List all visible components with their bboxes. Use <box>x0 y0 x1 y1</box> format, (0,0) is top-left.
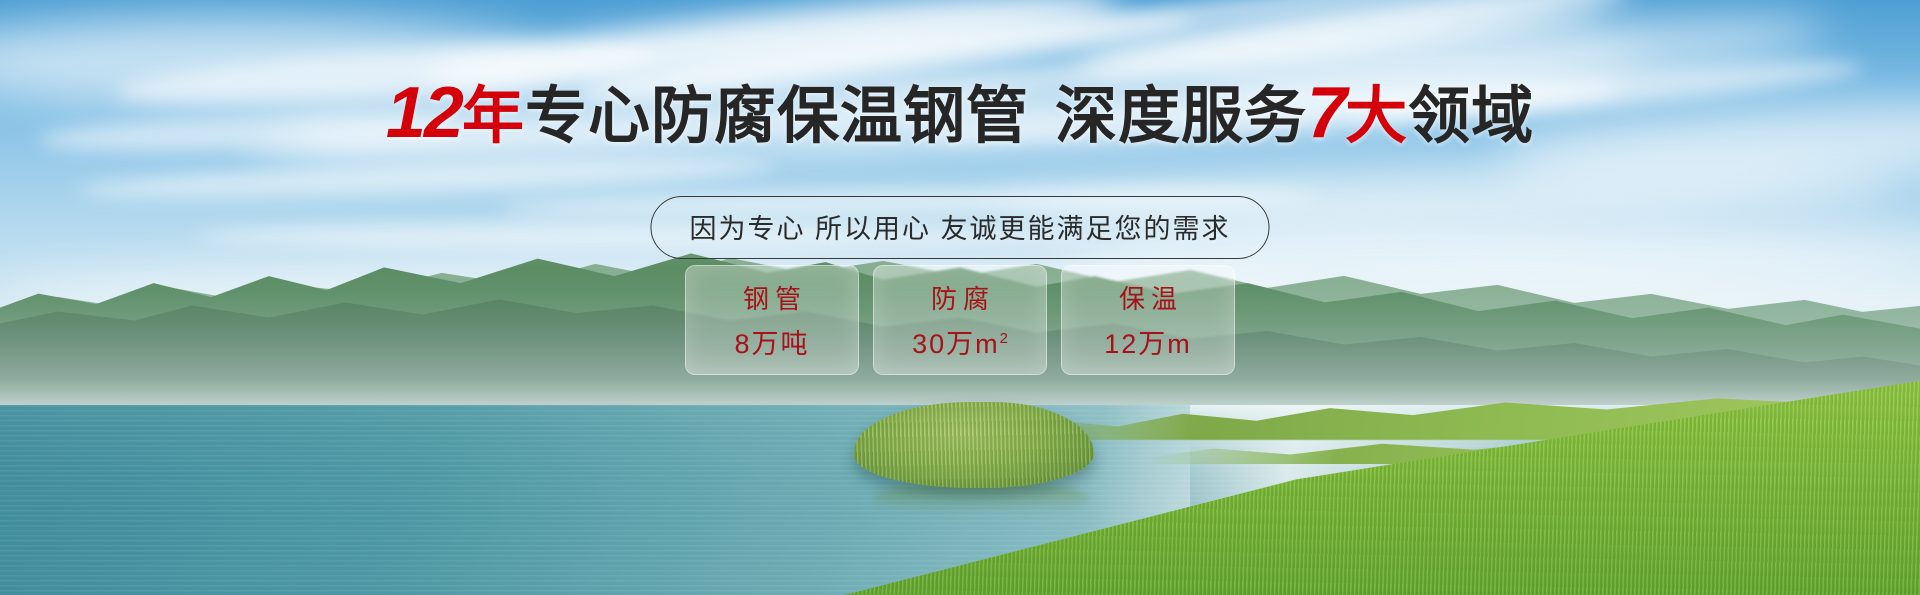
stat-card-value-main: 12万m <box>1104 329 1192 359</box>
stat-card-steel-pipe: 钢管 8万吨 <box>685 265 859 375</box>
stat-card-title: 保温 <box>1113 279 1183 316</box>
stat-card-value: 12万m <box>1104 322 1192 361</box>
subtitle-pill: 因为专心 所以用心 友诚更能满足您的需求 <box>650 196 1269 259</box>
stat-card-value-main: 30万m <box>912 329 1000 359</box>
stat-card-title: 钢管 <box>737 279 807 316</box>
headline-main: 专心防腐保温钢管 <box>525 82 1029 151</box>
stat-card-value-superscript: 2 <box>1000 330 1008 347</box>
headline-fields-number: 7 <box>1307 73 1345 153</box>
stat-card-value: 8万吨 <box>734 322 809 361</box>
stat-card-title: 防腐 <box>925 279 995 316</box>
headline-service: 深度服务 <box>1055 82 1307 151</box>
headline: 12年专心防腐保温钢管深度服务7大领域 <box>0 76 1920 152</box>
text-overlay: 12年专心防腐保温钢管深度服务7大领域 因为专心 所以用心 友诚更能满足您的需求… <box>0 0 1920 595</box>
headline-fields-unit: 大 <box>1345 82 1408 151</box>
stat-card-insulation: 保温 12万m <box>1061 265 1235 375</box>
headline-years-number: 12 <box>386 73 462 153</box>
stat-card-value-main: 8万吨 <box>734 329 809 359</box>
stat-card-list: 钢管 8万吨 防腐 30万m2 保温 12万m <box>685 265 1235 375</box>
headline-years-unit: 年 <box>462 82 525 151</box>
headline-fields-tail: 领域 <box>1408 82 1534 151</box>
stat-card-value: 30万m2 <box>912 322 1008 361</box>
promo-banner: 12年专心防腐保温钢管深度服务7大领域 因为专心 所以用心 友诚更能满足您的需求… <box>0 0 1920 595</box>
stat-card-anticorrosion: 防腐 30万m2 <box>873 265 1047 375</box>
